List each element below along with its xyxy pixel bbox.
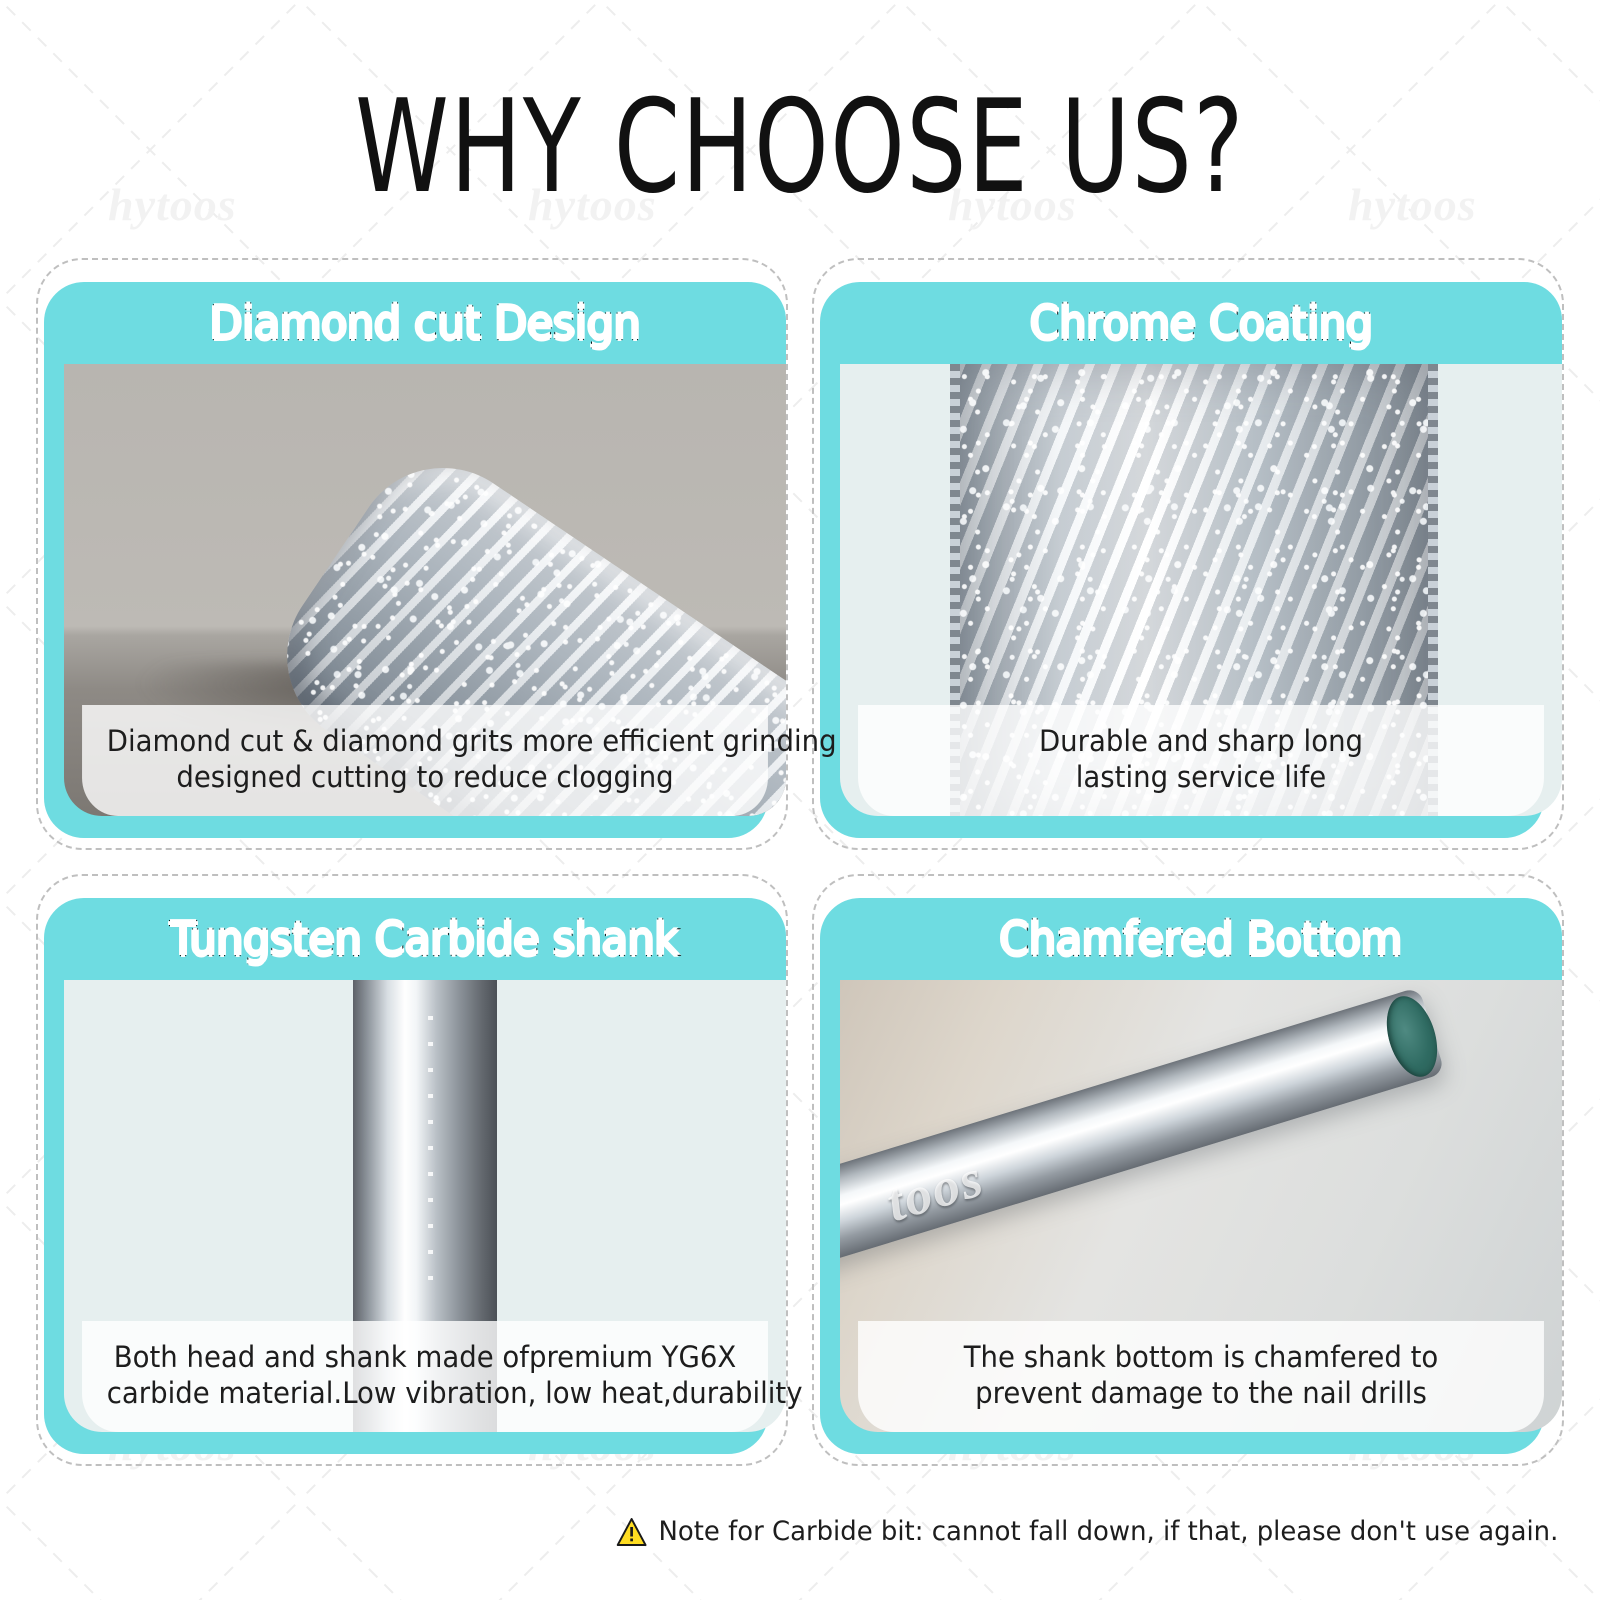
card-header: Diamond cut Design [64, 282, 786, 364]
card-header: Chamfered Bottom [840, 898, 1562, 980]
shank-engraved-text: toos [879, 1146, 991, 1234]
feature-card-grid: Diamond cut Design Diamond cut & diamond… [36, 258, 1564, 1466]
card-header-label: Chrome Coating [1030, 296, 1373, 350]
warning-triangle-icon [616, 1517, 647, 1547]
feature-card-row: Tungsten Carbide shank Both head and sha… [36, 874, 1564, 1466]
card-caption: Both head and shank made ofpremium YG6X … [82, 1321, 768, 1432]
card-caption-line-2: designed cutting to reduce clogging [107, 759, 744, 796]
card-caption-line-1: Diamond cut & diamond grits more efficie… [107, 723, 744, 760]
card-header-label: Diamond cut Design [210, 296, 641, 350]
card-header: Tungsten Carbide shank [64, 898, 786, 980]
card-caption: The shank bottom is chamfered to prevent… [858, 1321, 1544, 1432]
card-header: Chrome Coating [840, 282, 1562, 364]
card-caption-line-2: prevent damage to the nail drills [883, 1375, 1520, 1412]
feature-card-chrome-coating[interactable]: Chrome Coating Durable and sharp long la… [812, 258, 1564, 850]
footer-note: Note for Carbide bit: cannot fall down, … [616, 1516, 1558, 1547]
card-caption: Durable and sharp long lasting service l… [858, 705, 1544, 816]
card-caption-line-2: lasting service life [883, 759, 1520, 796]
feature-card-tungsten-carbide-shank[interactable]: Tungsten Carbide shank Both head and sha… [36, 874, 788, 1466]
card-caption: Diamond cut & diamond grits more efficie… [82, 705, 768, 816]
card-caption-line-1: Both head and shank made ofpremium YG6X [107, 1339, 744, 1376]
card-header-label: Tungsten Carbide shank [171, 912, 680, 966]
feature-card-row: Diamond cut Design Diamond cut & diamond… [36, 258, 1564, 850]
card-caption-line-1: Durable and sharp long [883, 723, 1520, 760]
card-header-label: Chamfered Bottom [1000, 912, 1403, 966]
feature-card-diamond-cut-design[interactable]: Diamond cut Design Diamond cut & diamond… [36, 258, 788, 850]
card-caption-line-1: The shank bottom is chamfered to [883, 1339, 1520, 1376]
card-caption-line-2: carbide material.Low vibration, low heat… [107, 1375, 744, 1412]
page-title: WHY CHOOSE US? [208, 84, 1392, 212]
feature-card-chamfered-bottom[interactable]: Chamfered Bottom toos The shank bottom i… [812, 874, 1564, 1466]
footer-note-text: Note for Carbide bit: cannot fall down, … [658, 1516, 1558, 1547]
